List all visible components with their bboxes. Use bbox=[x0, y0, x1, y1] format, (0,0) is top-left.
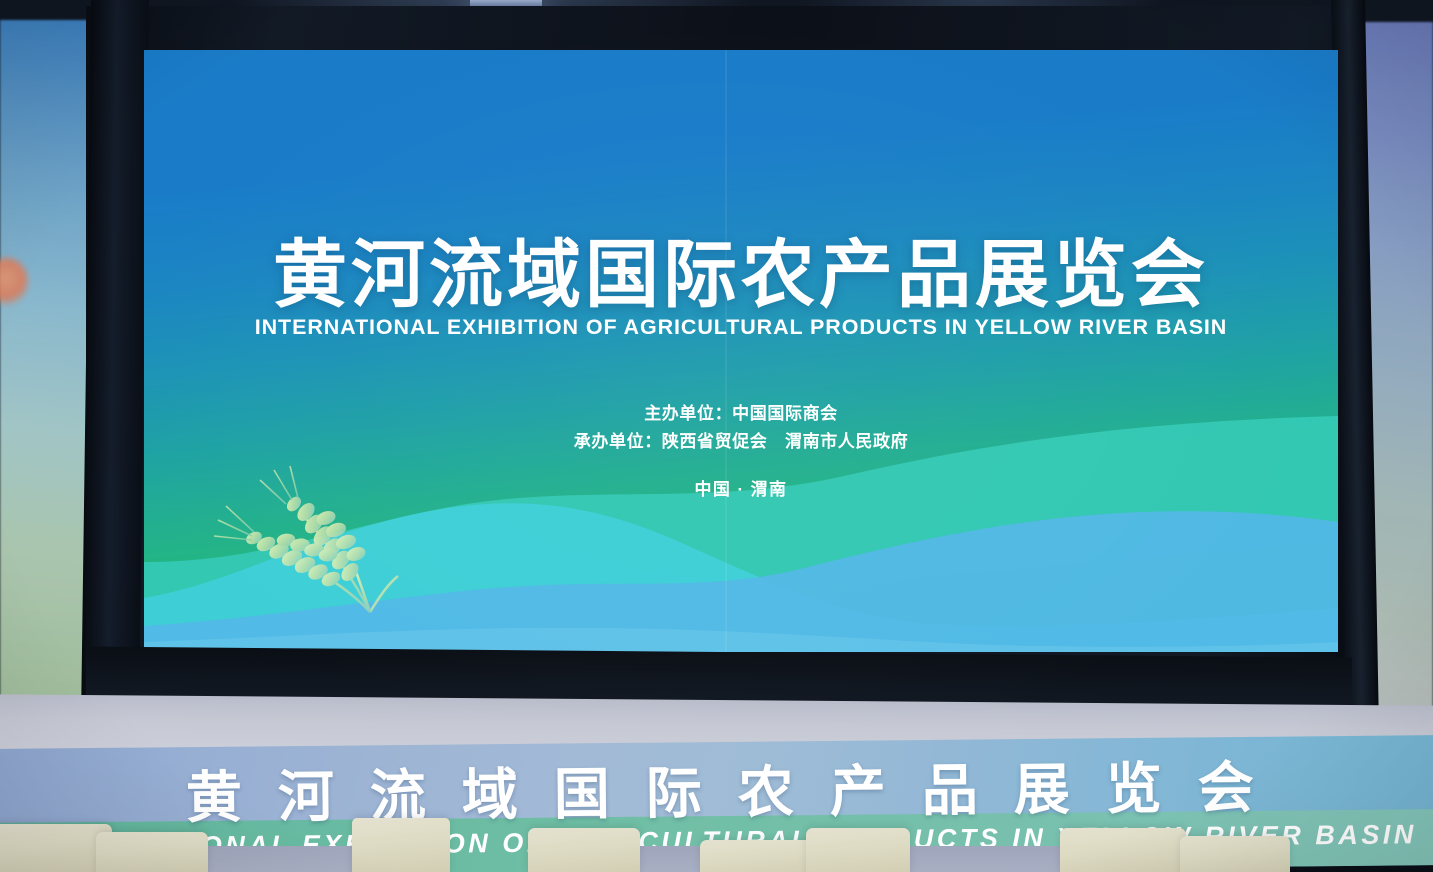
foreground-seat bbox=[1060, 828, 1186, 872]
seating-gap bbox=[636, 846, 702, 872]
screen-panel-seam bbox=[725, 50, 727, 652]
seating-gap bbox=[206, 846, 354, 872]
seating-gap bbox=[908, 846, 1062, 872]
organizer-line-host: 主办单位：中国国际商会 bbox=[144, 400, 1338, 428]
screen-main-title: 黄河流域国际农产品展览会 bbox=[144, 235, 1338, 315]
led-screen: 黄河流域国际农产品展览会 INTERNATIONAL EXHIBITION OF… bbox=[144, 50, 1338, 652]
screen-location-line: 中国 · 渭南 bbox=[144, 475, 1338, 500]
screen-subtitle-english: INTERNATIONAL EXHIBITION OF AGRICULTURAL… bbox=[144, 315, 1338, 340]
screen-organizer-block: 主办单位：中国国际商会 承办单位：陕西省贸促会 渭南市人民政府 bbox=[144, 400, 1338, 455]
bezel-left-post bbox=[81, 0, 149, 724]
foreground-seat bbox=[352, 818, 450, 872]
foreground-seat bbox=[806, 828, 910, 872]
foreground-seat bbox=[96, 832, 208, 872]
foreground-seat bbox=[528, 828, 640, 872]
stage-photo-scene: 黄河流域国际农产品展览会 INTERNATIONAL EXHIBITION OF… bbox=[0, 0, 1433, 872]
orange-orb-icon bbox=[0, 258, 28, 306]
wheat-stalk-icon bbox=[174, 444, 424, 634]
foreground-seat bbox=[1180, 836, 1290, 872]
foreground-seat bbox=[700, 840, 820, 872]
organizer-line-coorganizer: 承办单位：陕西省贸促会 渭南市人民政府 bbox=[144, 428, 1338, 456]
